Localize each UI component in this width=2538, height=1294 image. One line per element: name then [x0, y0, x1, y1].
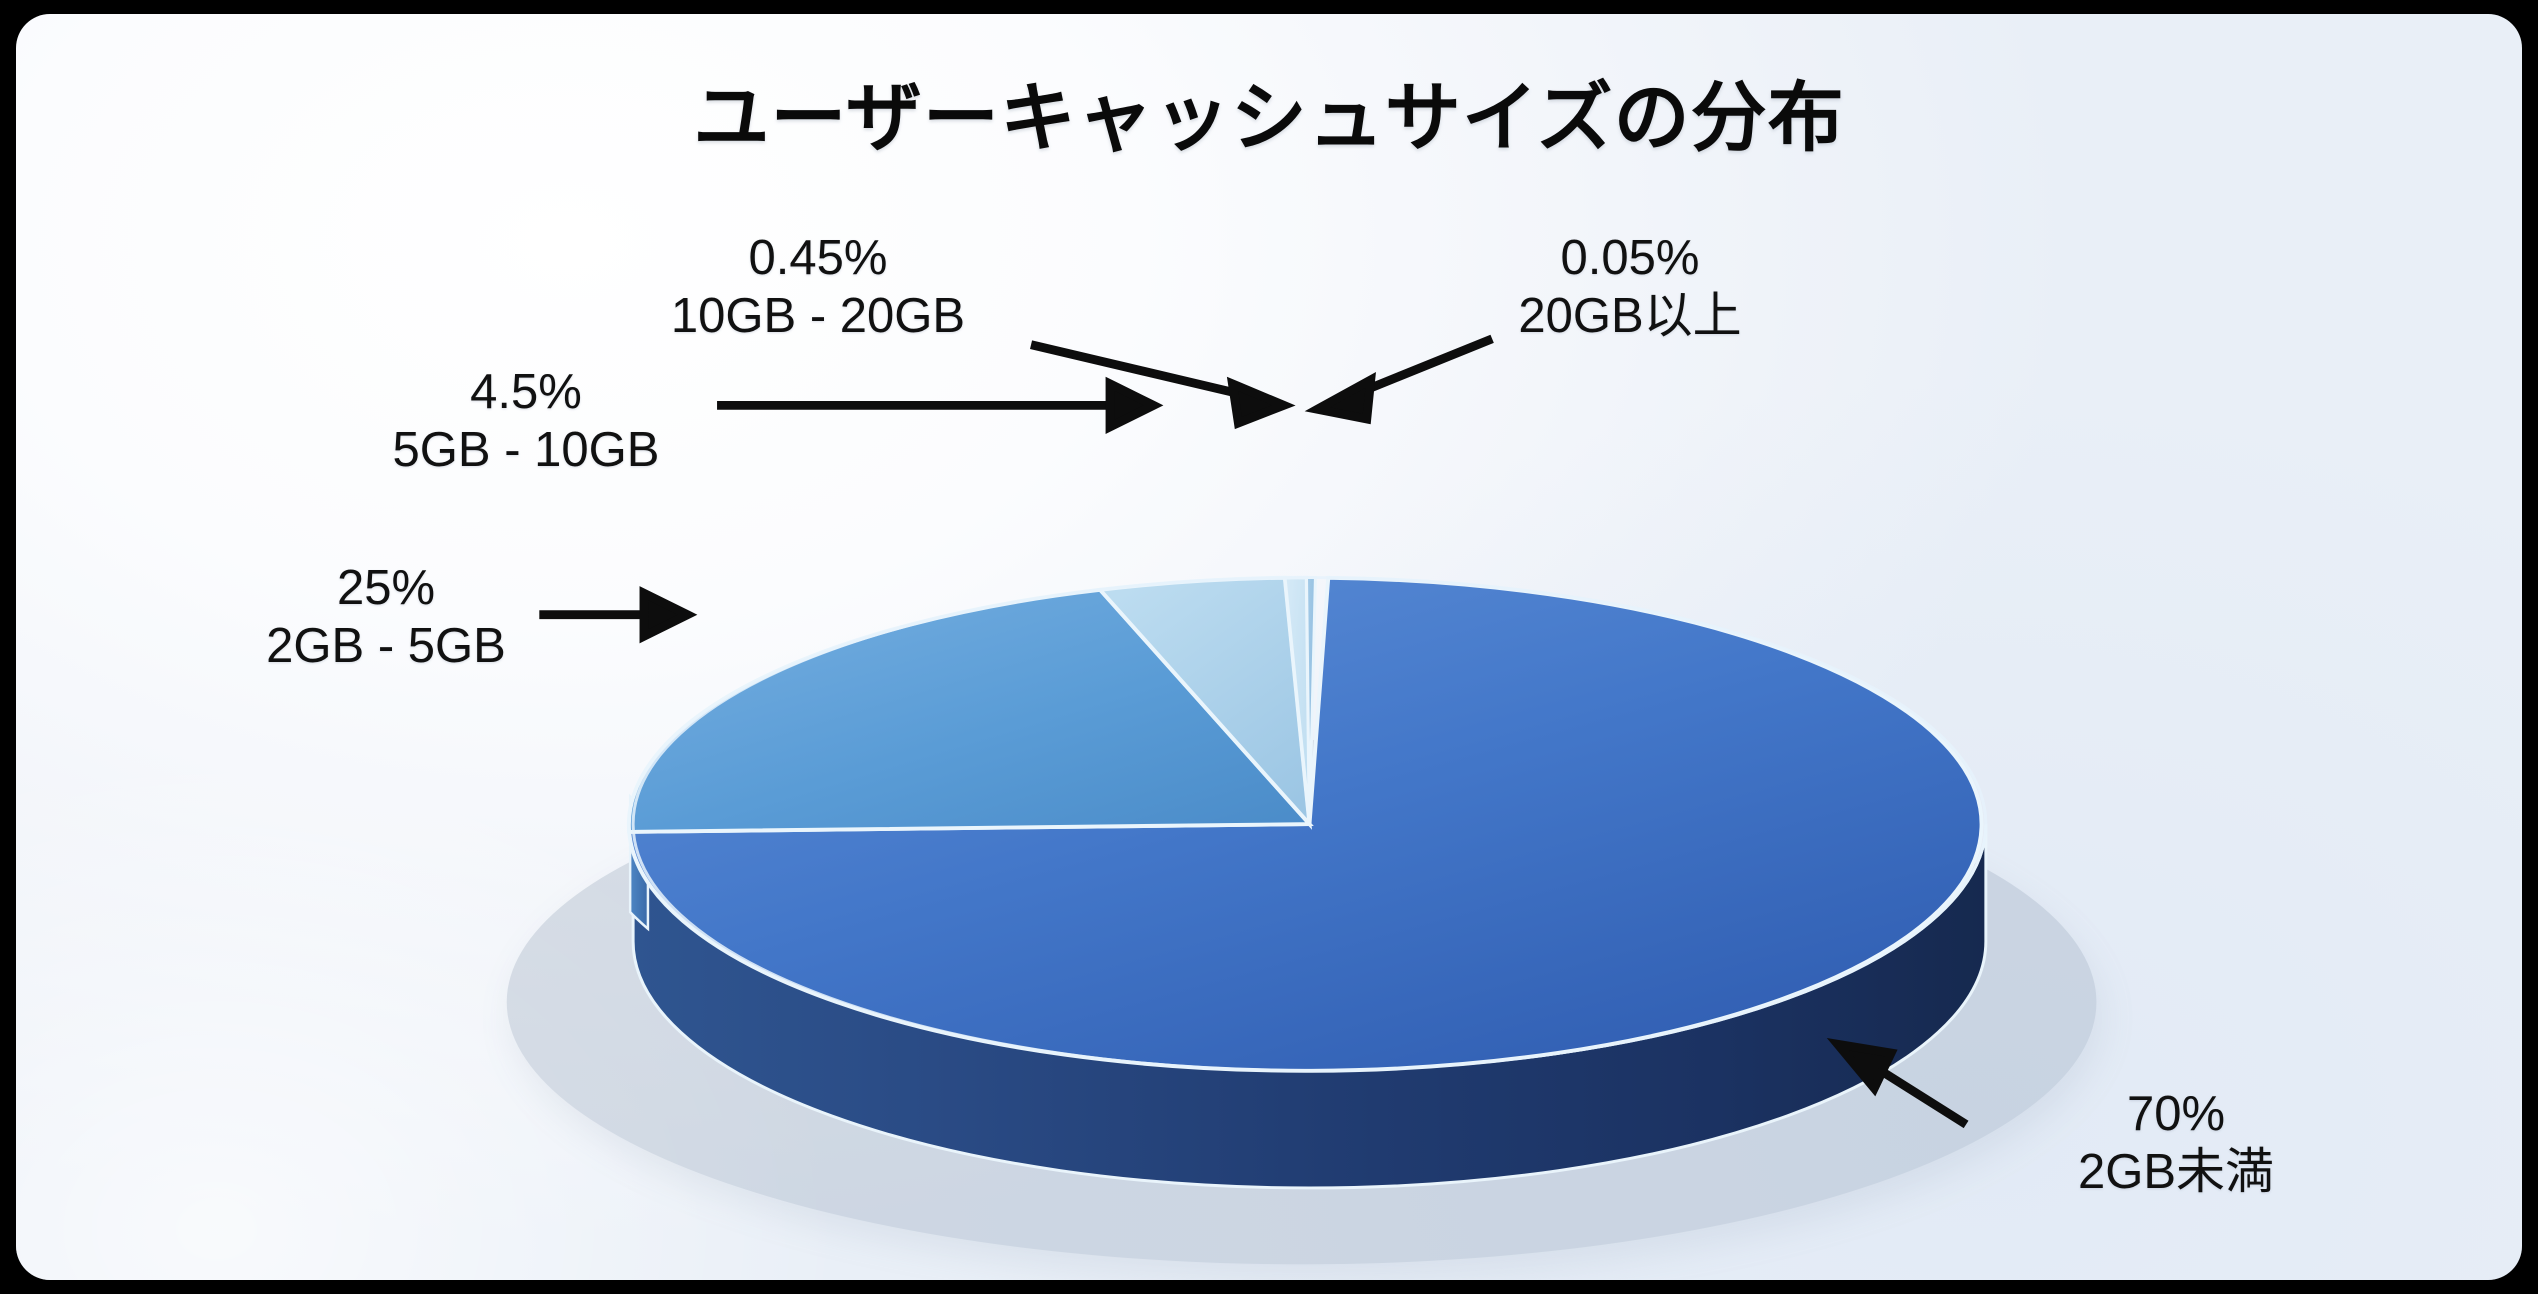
chart-canvas: ユーザーキャッシュサイズの分布 — [16, 14, 2522, 1280]
page-title: ユーザーキャッシュサイズの分布 — [16, 56, 2522, 166]
callout-label-under-2gb: 70% 2GB未満 — [2006, 1086, 2346, 1202]
callout-name-under-2gb: 2GB未満 — [2006, 1144, 2346, 1202]
arrow-head-20gb-plus — [1317, 380, 1370, 419]
arrow-head-2gb-5gb — [644, 593, 687, 636]
callout-name-5gb-10gb: 5GB - 10GB — [316, 422, 736, 480]
callout-percent-under-2gb: 70% — [2006, 1086, 2346, 1144]
callout-label-5gb-10gb: 4.5% 5GB - 10GB — [316, 364, 736, 480]
callout-percent-2gb-5gb: 25% — [196, 560, 576, 618]
callout-name-10gb-20gb: 10GB - 20GB — [608, 288, 1028, 346]
callout-label-10gb-20gb: 0.45% 10GB - 20GB — [608, 230, 1028, 346]
callout-label-20gb-plus: 0.05% 20GB以上 — [1440, 230, 1820, 346]
arrow-head-10gb-20gb — [1232, 384, 1283, 423]
callout-percent-5gb-10gb: 4.5% — [316, 364, 736, 422]
callout-label-2gb-5gb: 25% 2GB - 5GB — [196, 560, 576, 676]
callout-name-2gb-5gb: 2GB - 5GB — [196, 618, 576, 676]
callout-percent-20gb-plus: 0.05% — [1440, 230, 1820, 288]
image-frame: ユーザーキャッシュサイズの分布 — [0, 0, 2538, 1294]
callout-name-20gb-plus: 20GB以上 — [1440, 288, 1820, 346]
arrow-head-5gb-10gb — [1110, 384, 1153, 427]
callout-percent-10gb-20gb: 0.45% — [608, 230, 1028, 288]
arrow-line-10gb-20gb — [1031, 345, 1255, 398]
